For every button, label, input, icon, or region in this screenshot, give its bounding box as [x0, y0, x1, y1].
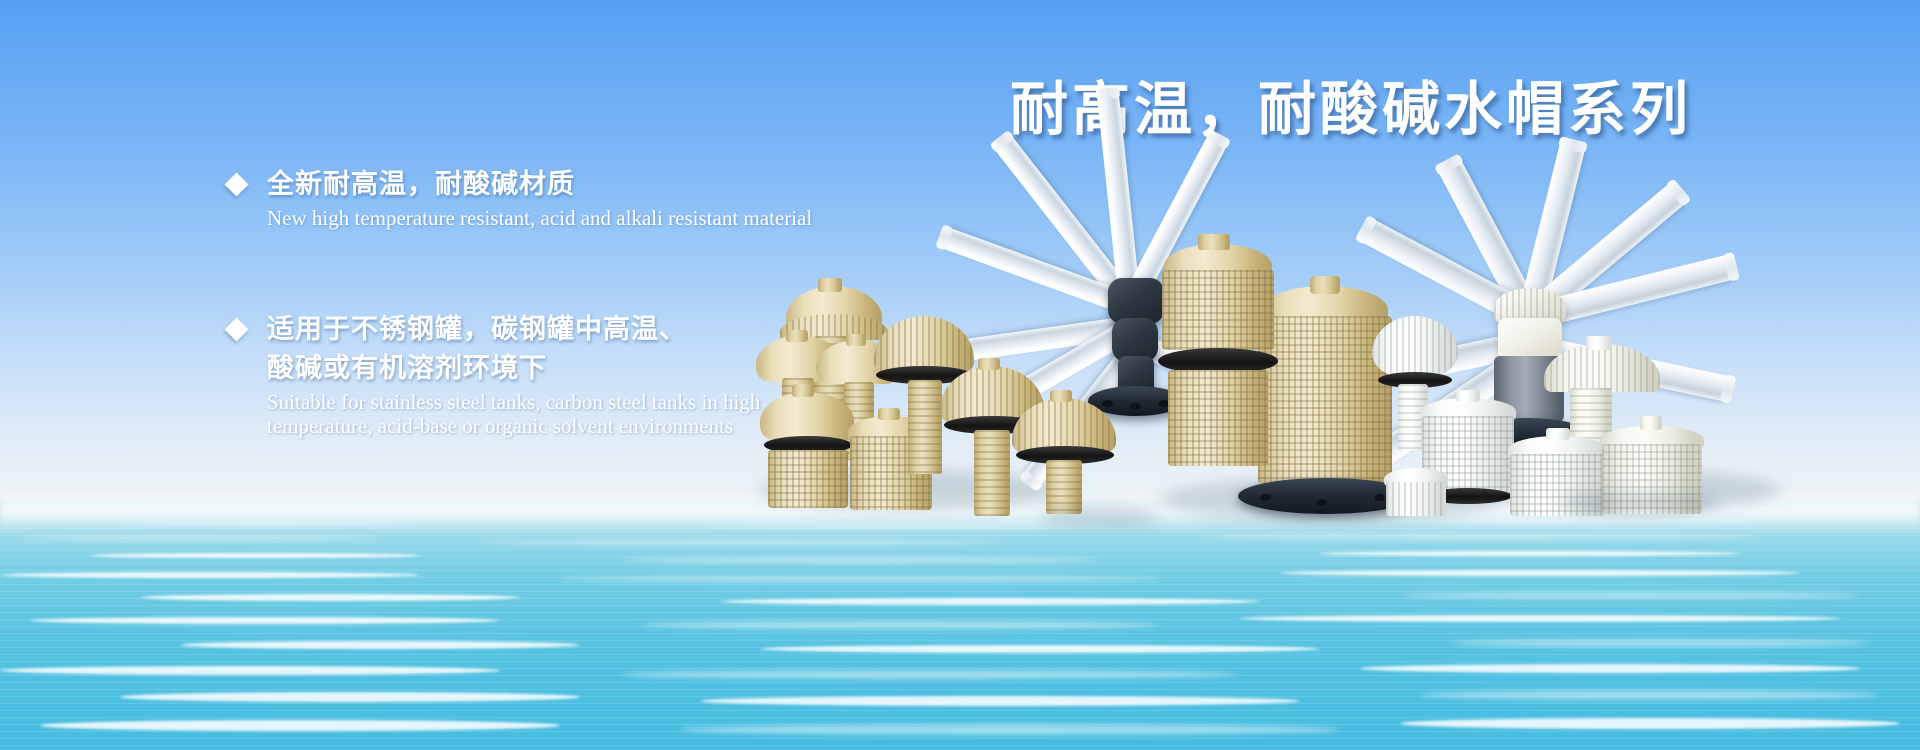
- water-cap-nozzle-product-group: [0, 0, 1920, 750]
- product-banner: 耐高温，耐酸碱水帽系列 全新耐高温，耐酸碱材质 New high tempera…: [0, 0, 1920, 750]
